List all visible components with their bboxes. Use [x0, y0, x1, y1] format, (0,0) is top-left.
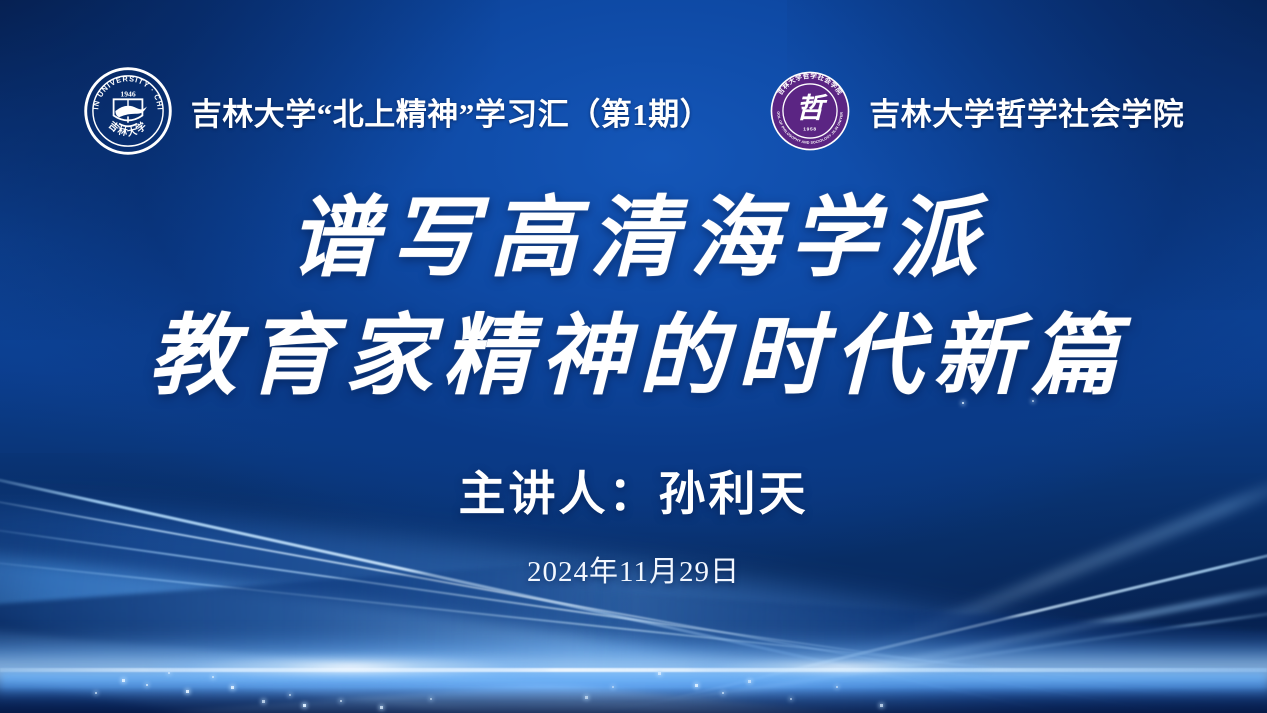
svg-text:1946: 1946 [120, 90, 135, 99]
light-ray-left-2 [0, 494, 1220, 713]
brand-philosophy-school: 吉林大学哲学社会学院 SCHOOL OF PHILOSOPHY AND SOCI… [769, 70, 1184, 152]
sparkle-particle [380, 706, 383, 709]
bottom-shadow [0, 687, 1267, 713]
svg-text:JILIN UNIVERSITY · CHINA: JILIN UNIVERSITY · CHINA [83, 66, 165, 111]
header-title-left: 吉林大学“北上精神”学习汇（第1期） [191, 89, 712, 134]
main-title-block: 谱写高清海学派 教育家精神的时代新篇 [0, 196, 1267, 402]
sparkle-particle [262, 700, 265, 703]
svg-text:1958: 1958 [803, 127, 817, 133]
horizon-core-line [0, 668, 1267, 672]
sparkle-particle [289, 694, 291, 696]
header-title-right: 吉林大学哲学社会学院 [869, 89, 1184, 134]
sparkle-particle [790, 698, 792, 700]
sparkle-particle [748, 680, 751, 683]
sparkle-particle [880, 704, 883, 707]
speaker-line: 主讲人：孙利天 [0, 455, 1267, 524]
sparkle-particle [231, 686, 234, 689]
horizon-lens-flare-left [150, 652, 550, 682]
sparkle-particle [122, 679, 125, 682]
main-title-line-2: 教育家精神的时代新篇 [0, 314, 1267, 402]
jilin-university-seal-icon: JILIN UNIVERSITY · CHINA 吉林大学 1946 [83, 66, 173, 156]
sparkle-particle [146, 684, 148, 686]
main-title-line-1: 谱写高清海学派 [0, 196, 1267, 284]
date-line: 2024年11月29日 [0, 548, 1267, 590]
slide-header: JILIN UNIVERSITY · CHINA 吉林大学 1946 吉林大学“… [0, 64, 1267, 158]
sparkle-particle [612, 686, 614, 688]
light-ray-right-3 [159, 604, 1267, 713]
sparkle-particle [95, 692, 97, 694]
presentation-slide: JILIN UNIVERSITY · CHINA 吉林大学 1946 吉林大学“… [0, 0, 1267, 713]
sparkle-particle [722, 692, 724, 694]
sparkle-particle [186, 690, 189, 693]
light-ray-right-2 [227, 576, 1267, 713]
foreground-wedge-right [568, 591, 1267, 713]
sparkle-particle [430, 698, 432, 700]
sparkle-particle [695, 684, 698, 687]
light-sweep-d [0, 612, 1267, 713]
sparkle-particle [658, 672, 661, 675]
brand-jilin-university: JILIN UNIVERSITY · CHINA 吉林大学 1946 吉林大学“… [83, 66, 712, 156]
horizon-glow-band [0, 634, 1267, 708]
light-sweep-b [0, 501, 1267, 713]
horizon-lens-flare-right [690, 656, 990, 678]
sparkle-particle [168, 672, 170, 674]
horizon-under-glow [0, 672, 1267, 702]
sparkle-particle [836, 686, 838, 688]
sparkle-particle [340, 700, 342, 702]
svg-text:哲: 哲 [796, 94, 828, 125]
sparkle-particle [303, 704, 306, 707]
philosophy-school-seal-icon: 吉林大学哲学社会学院 SCHOOL OF PHILOSOPHY AND SOCI… [769, 70, 851, 152]
sparkle-particle [212, 676, 214, 678]
sparkle-particle [585, 696, 588, 699]
